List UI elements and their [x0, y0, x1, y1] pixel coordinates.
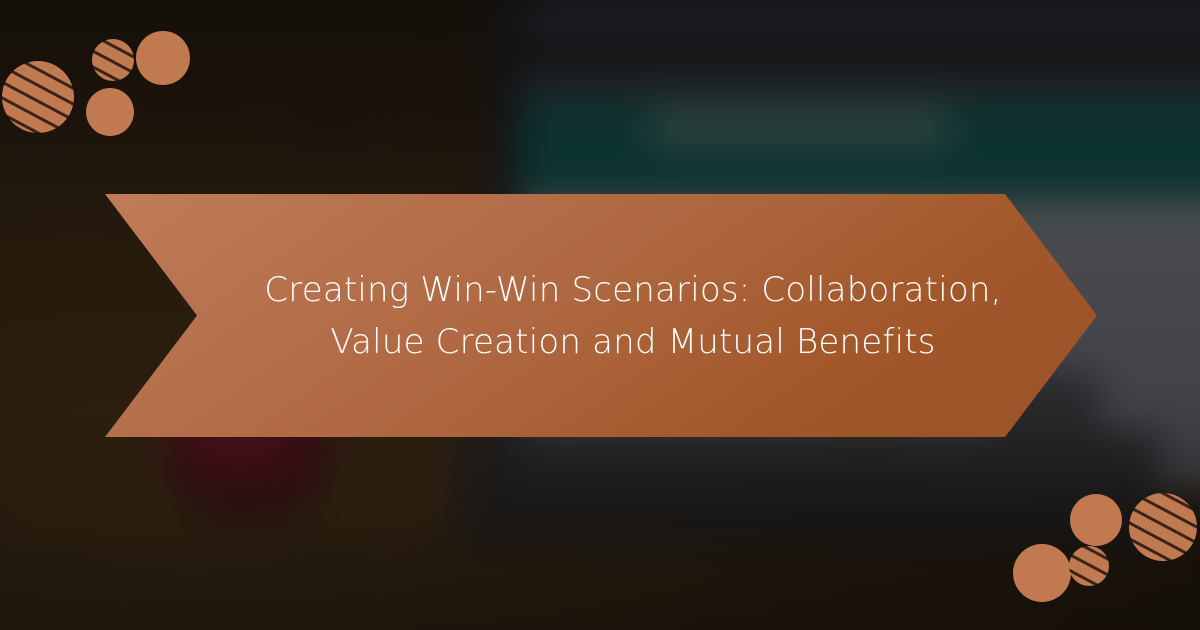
banner-canvas: Creating Win-Win Scenarios: Collaboratio… [0, 0, 1200, 630]
banner-title: Creating Win-Win Scenarios: Collaboratio… [105, 194, 1129, 437]
banner-title-line-1: Creating Win-Win Scenarios: Collaboratio… [264, 264, 1001, 316]
banner-title-line-2: Value Creation and Mutual Benefits [330, 316, 935, 368]
title-banner: Creating Win-Win Scenarios: Collaboratio… [105, 194, 1097, 437]
